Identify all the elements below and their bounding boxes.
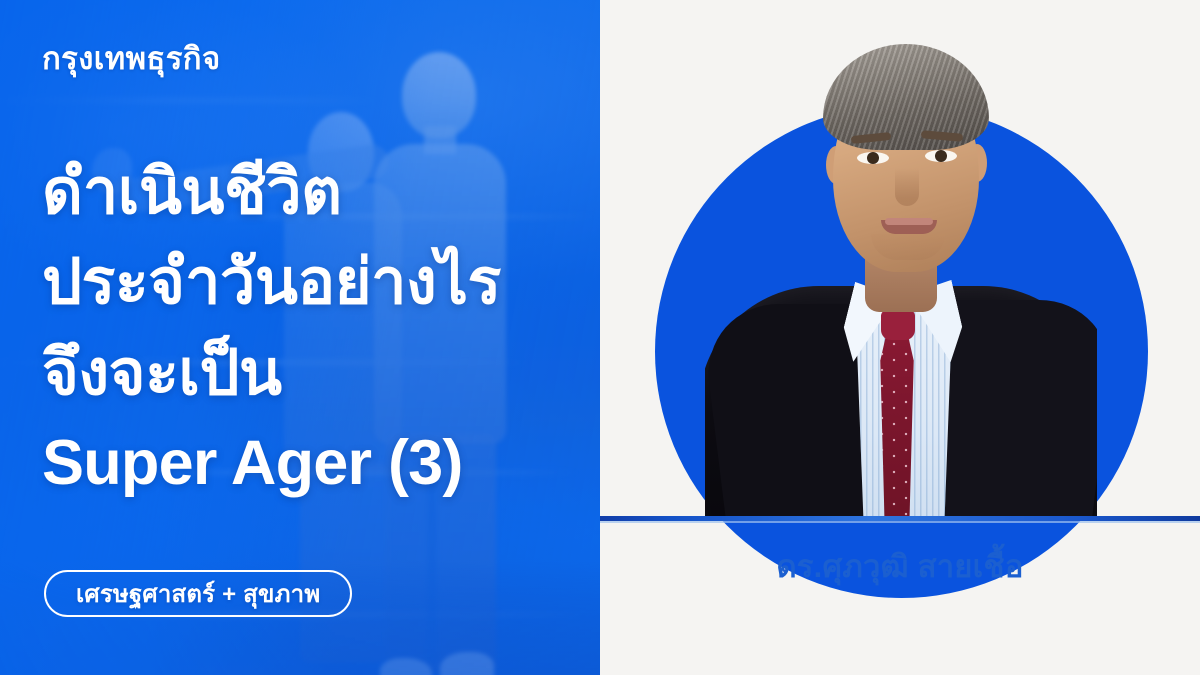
speaker-name: ดร.ศุภวุฒิ สายเชื้อ — [600, 548, 1200, 585]
left-content: กรุงเทพธุรกิจ ดำเนินชีวิต ประจำวันอย่างไ… — [0, 0, 600, 675]
headline-line-1: ดำเนินชีวิต — [42, 160, 582, 224]
headline-line-2: ประจำวันอย่างไร — [42, 250, 582, 314]
article-cover-card: กรุงเทพธุรกิจ ดำเนินชีวิต ประจำวันอย่างไ… — [0, 0, 1200, 675]
headline-line-4: Super Ager (3) — [42, 431, 582, 495]
headline-line-3: จึงจะเป็น — [42, 341, 582, 405]
brand-logo-text[interactable]: กรุงเทพธุรกิจ — [42, 42, 221, 76]
horizontal-divider-highlight — [600, 521, 1200, 523]
speaker-portrait — [705, 18, 1097, 520]
left-panel: กรุงเทพธุรกิจ ดำเนินชีวิต ประจำวันอย่างไ… — [0, 0, 600, 675]
headline-block: ดำเนินชีวิต ประจำวันอย่างไร จึงจะเป็น Su… — [42, 160, 582, 495]
category-badge[interactable]: เศรษฐศาสตร์ + สุขภาพ — [44, 570, 352, 617]
